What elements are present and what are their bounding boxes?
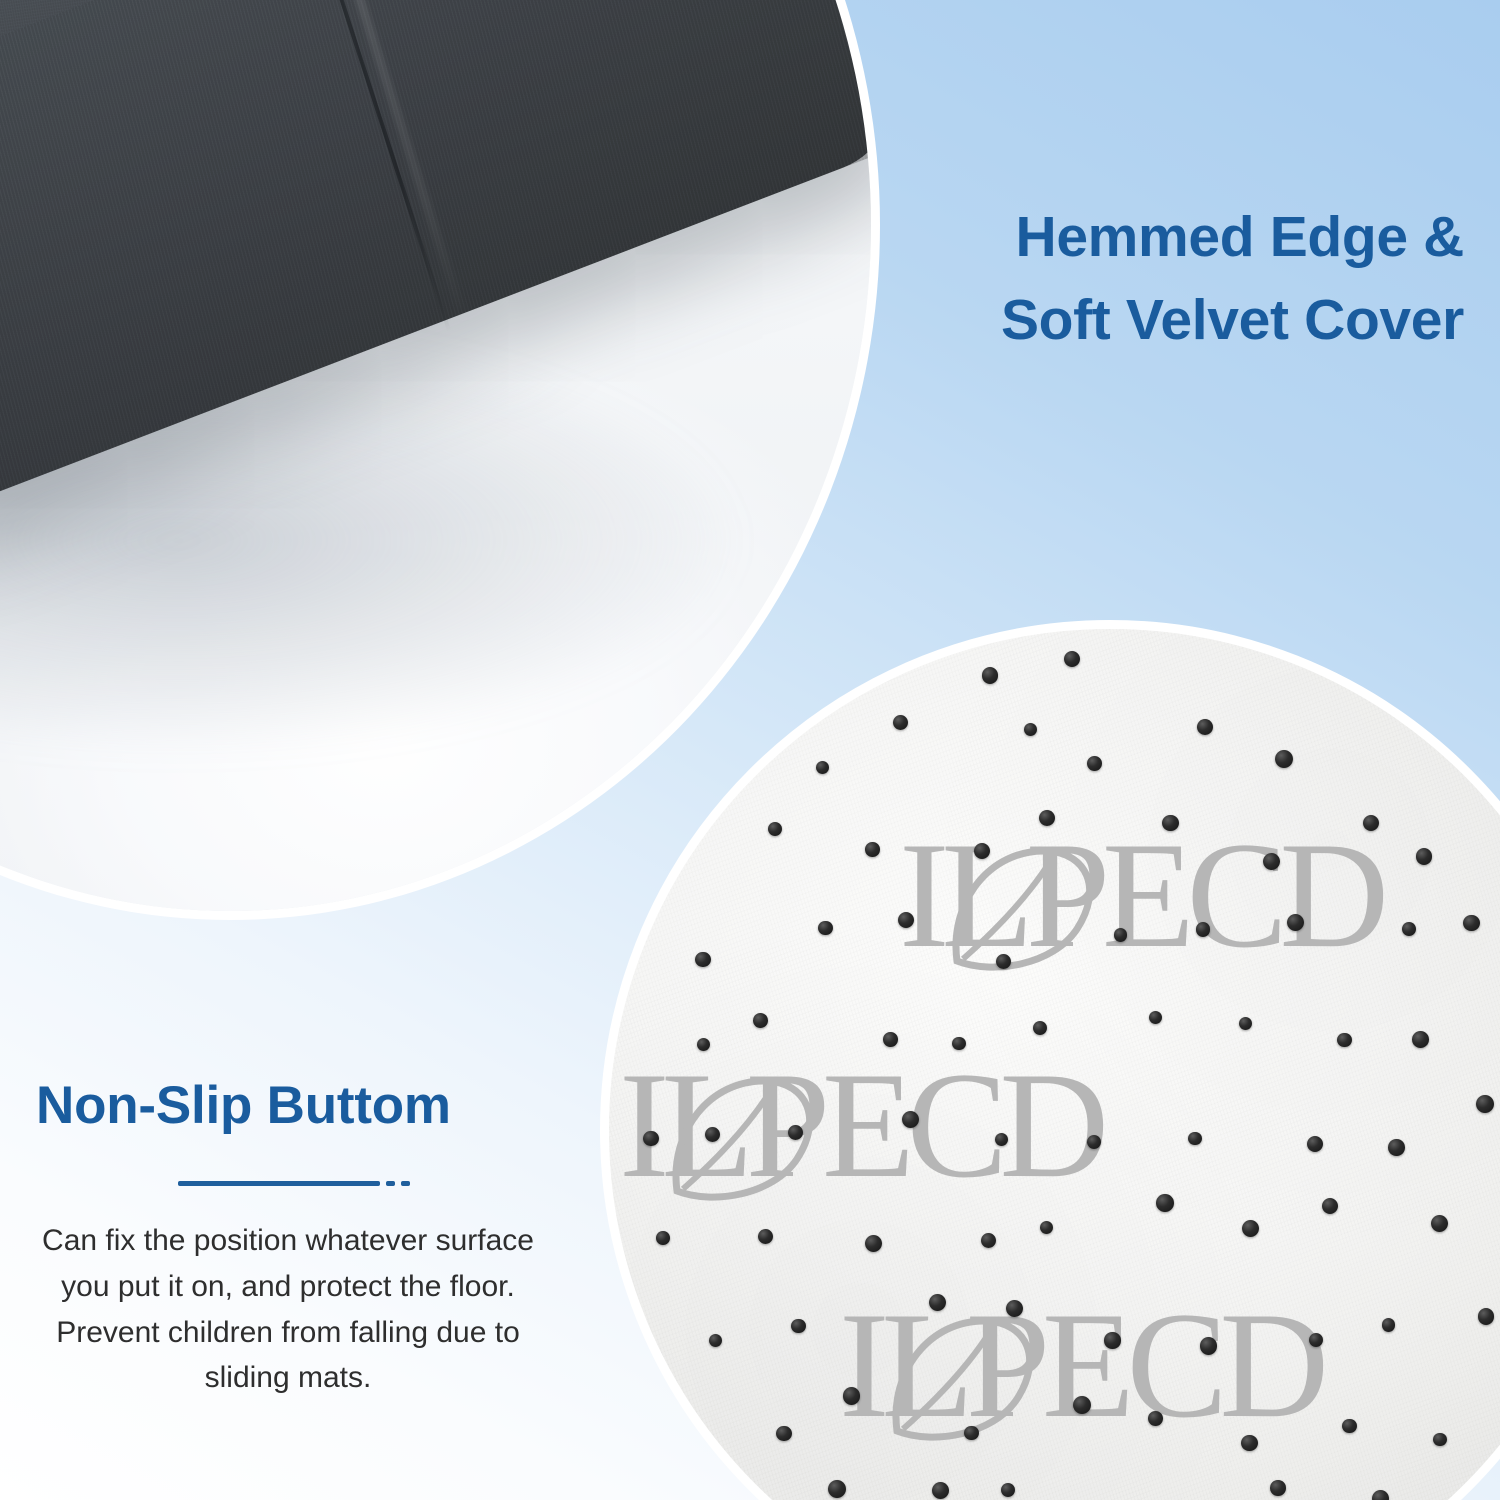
non-slip-dot [1416, 848, 1432, 864]
infographic-canvas: ILPECD ILPECD ILPECD Hemmed Edge & Soft … [0, 0, 1500, 1500]
non-slip-dot [964, 1426, 979, 1441]
non-slip-dot [1463, 915, 1480, 932]
non-slip-dot [1478, 1308, 1494, 1324]
brand-watermark: ILPECD [839, 1289, 1321, 1441]
non-slip-dot [1402, 922, 1416, 936]
non-slip-dot [1156, 1194, 1174, 1212]
body-line-3: Prevent children from falling due to [56, 1316, 520, 1349]
heading-divider [26, 1181, 562, 1186]
brand-watermark: ILPECD [619, 1049, 1101, 1201]
non-slip-dot [1196, 922, 1211, 937]
brand-watermark-text: ILPECD [899, 811, 1381, 979]
brand-watermark-text: ILPECD [839, 1281, 1321, 1449]
non-slip-dot [1337, 1033, 1351, 1047]
non-slip-dot [1006, 1300, 1023, 1317]
non-slip-dot [1197, 719, 1213, 735]
non-slip-dot [818, 921, 832, 935]
divider-dash-2 [401, 1181, 410, 1186]
divider-dash-1 [386, 1181, 395, 1186]
non-slip-dot [843, 1387, 860, 1404]
non-slip-dot [1148, 1411, 1163, 1426]
non-slip-dot [1039, 810, 1055, 826]
non-slip-dot [1382, 1318, 1395, 1331]
non-slip-dot [1363, 815, 1379, 831]
brand-watermark-text: ILPECD [619, 1041, 1101, 1209]
heading-line-1: Hemmed Edge & [824, 196, 1464, 279]
non-slip-dot [1372, 1490, 1389, 1500]
non-slip-dot [828, 1480, 846, 1498]
non-slip-dot [1309, 1333, 1323, 1347]
non-slip-dot [1024, 723, 1037, 736]
brand-watermark: ILPECD [899, 819, 1381, 971]
non-slip-dot [1087, 756, 1102, 771]
non-slip-dot [1033, 1021, 1047, 1035]
non-slip-dot [1064, 651, 1080, 667]
non-slip-dot [1241, 1435, 1257, 1451]
non-slip-dot [995, 1133, 1008, 1146]
body-line-4: sliding mats. [205, 1361, 372, 1394]
non-slip-dot [932, 1482, 949, 1499]
non-slip-dot [865, 842, 880, 857]
feature-block-non-slip: Non-Slip Buttom Can fix the position wha… [14, 1076, 562, 1401]
body-line-1: Can fix the position whatever surface [42, 1224, 534, 1257]
non-slip-dot [791, 1319, 805, 1333]
non-slip-dot [1322, 1198, 1338, 1214]
non-slip-dot [776, 1426, 791, 1441]
non-slip-dot [1275, 750, 1293, 768]
feature-heading-hemmed-edge: Hemmed Edge & Soft Velvet Cover [824, 196, 1464, 362]
feature-heading-non-slip: Non-Slip Buttom [14, 1076, 562, 1135]
feature-body-non-slip: Can fix the position whatever surface yo… [14, 1218, 562, 1400]
body-line-2: you put it on, and protect the floor. [61, 1270, 515, 1303]
non-slip-dot [883, 1032, 898, 1047]
non-slip-dot [656, 1231, 670, 1245]
non-slip-dot [952, 1037, 966, 1051]
non-slip-dot [1412, 1031, 1429, 1048]
non-slip-dot [974, 843, 990, 859]
non-slip-dot [865, 1235, 882, 1252]
non-slip-dot [695, 952, 710, 967]
non-slip-dot [1270, 1480, 1286, 1496]
heading-line-2: Soft Velvet Cover [824, 279, 1464, 362]
non-slip-dot [1388, 1139, 1405, 1156]
non-slip-dot [643, 1131, 659, 1147]
non-slip-dot [1200, 1337, 1217, 1354]
non-slip-dot [1242, 1220, 1259, 1237]
non-slip-dot [1342, 1419, 1357, 1434]
photo-panel-non-slip-bottom: ILPECD ILPECD ILPECD [600, 620, 1500, 1500]
non-slip-dot [1104, 1332, 1120, 1348]
divider-line [178, 1181, 380, 1186]
non-slip-dot [753, 1013, 768, 1028]
non-slip-dot [1433, 1433, 1446, 1446]
non-slip-dot [1162, 815, 1178, 831]
